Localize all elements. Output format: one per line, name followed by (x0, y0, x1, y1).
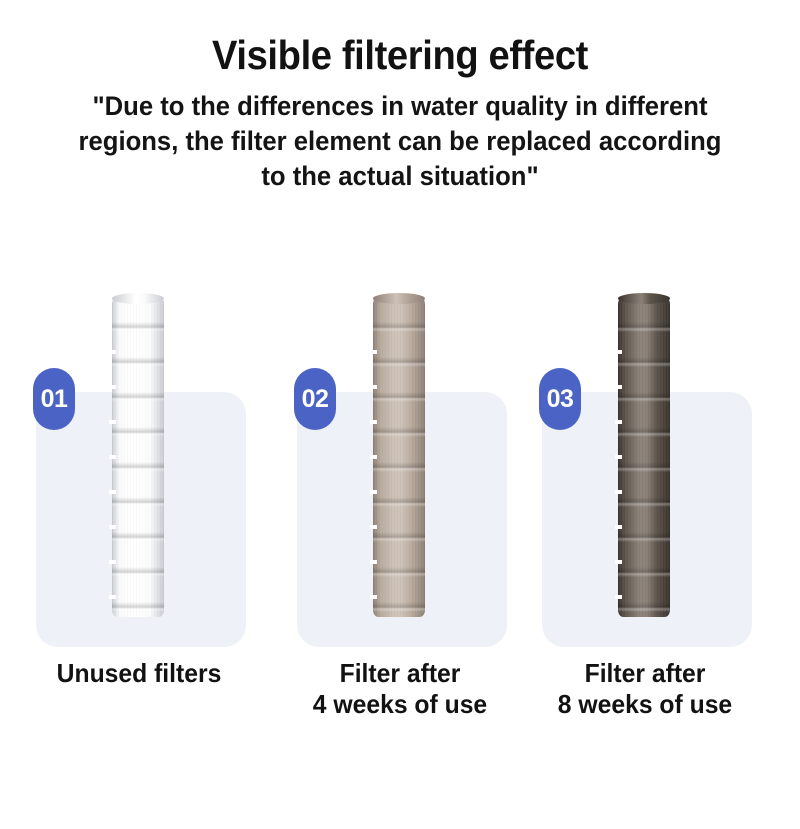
cylinder-rib-bands (112, 297, 164, 617)
cartridge-top-cap (618, 293, 670, 304)
filter-cartridge-unused (112, 297, 166, 617)
comparison-item-02: 02 Filter after 4 weeks of use (267, 280, 533, 750)
cartridge-body (373, 297, 425, 617)
comparison-item-01: 01 Unused filters (6, 280, 272, 750)
caption-01: Unused filters (13, 658, 266, 689)
cartridge-edge-notches (370, 319, 377, 599)
page-subtitle: "Due to the differences in water quality… (77, 77, 723, 193)
caption-line-1: Filter after (519, 658, 772, 689)
cylinder-rib-bands (373, 297, 425, 617)
caption-02: Filter after 4 weeks of use (274, 658, 527, 719)
cartridge-body (112, 297, 164, 617)
caption-line-1: Filter after (274, 658, 527, 689)
filter-cartridge-4-weeks (373, 297, 427, 617)
caption-line-2: 8 weeks of use (519, 689, 772, 720)
step-badge-01: 01 (33, 368, 75, 430)
caption-line-1: Unused filters (13, 658, 266, 689)
caption-03: Filter after 8 weeks of use (519, 658, 772, 719)
step-badge-label: 02 (302, 385, 329, 414)
cartridge-edge-notches (109, 319, 116, 599)
step-badge-label: 01 (41, 385, 68, 414)
cartridge-top-cap (373, 293, 425, 304)
caption-line-2: 4 weeks of use (274, 689, 527, 720)
cartridge-edge-notches (615, 319, 622, 599)
cartridge-body (618, 297, 670, 617)
filter-comparison-row: 01 Unused filters 02 (0, 280, 800, 750)
step-badge-label: 03 (547, 385, 574, 414)
cartridge-top-cap (112, 293, 164, 304)
step-badge-02: 02 (294, 368, 336, 430)
comparison-item-03: 03 Filter after 8 weeks of use (512, 280, 778, 750)
page-title: Visible filtering effect (28, 0, 772, 77)
step-badge-03: 03 (539, 368, 581, 430)
header-block: Visible filtering effect "Due to the dif… (0, 0, 800, 193)
filter-cartridge-8-weeks (618, 297, 672, 617)
cylinder-rib-bands (618, 297, 670, 617)
